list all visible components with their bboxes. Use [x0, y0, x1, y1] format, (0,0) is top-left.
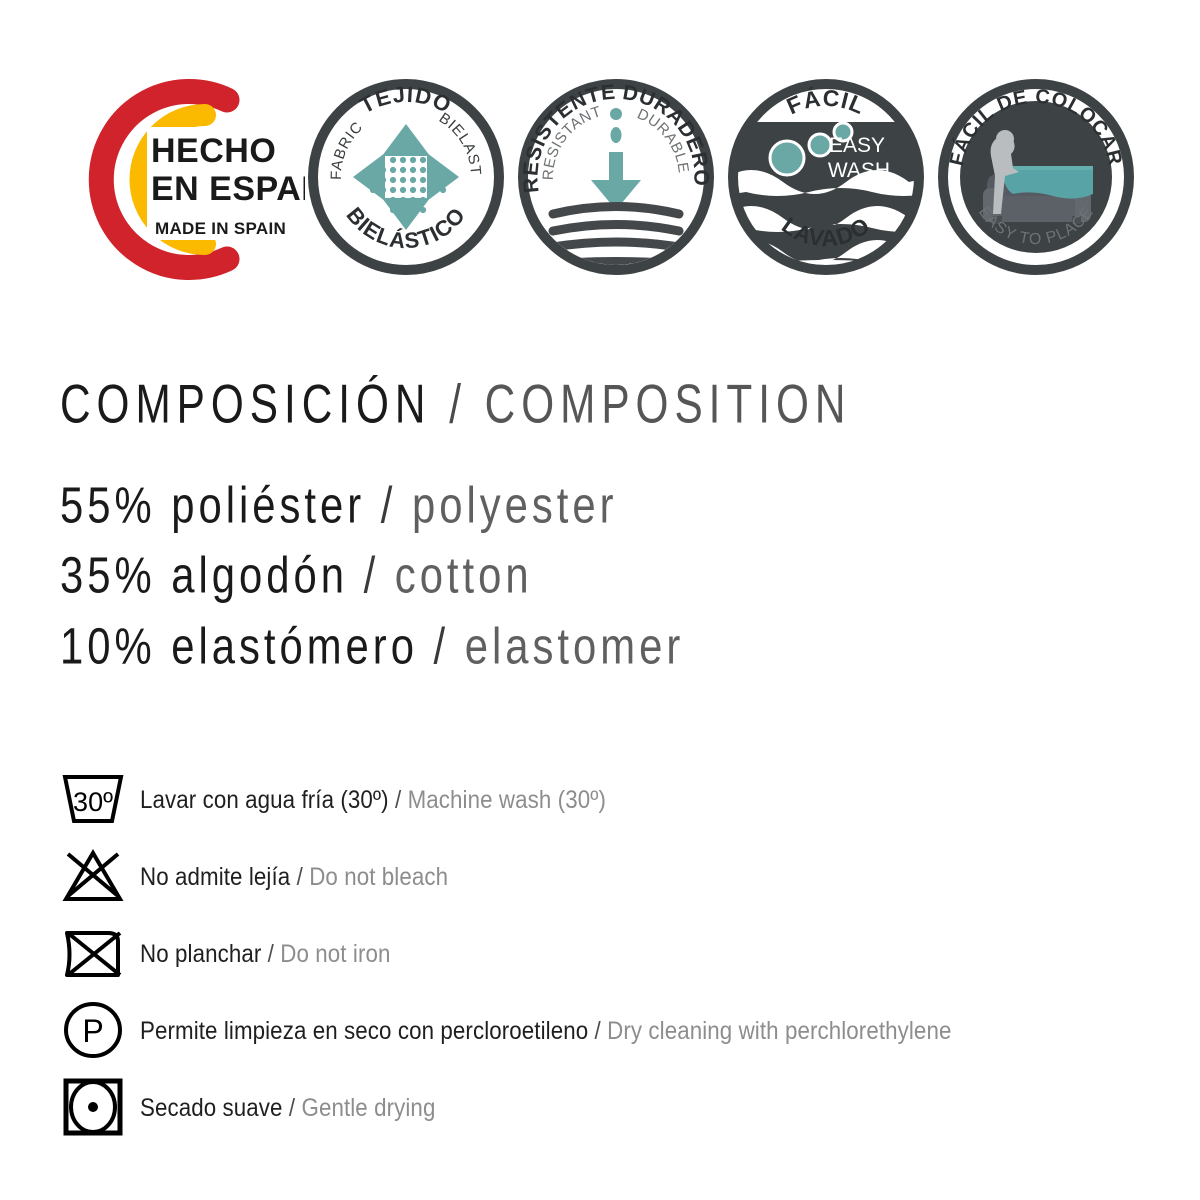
material-percent: 55%	[60, 477, 156, 534]
composition-title-es: COMPOSICIÓN	[60, 373, 431, 434]
badge3-inner-label-2: WASH	[828, 159, 890, 182]
badge-resistant-durable: RESISTENTE RESISTANT DURADERO DURABLE	[515, 76, 717, 278]
composition-material-row: 10% elastómero / elastomer	[60, 615, 1096, 680]
composition-title-en: COMPOSITION	[485, 373, 852, 434]
care-label: No planchar / Do not iron	[140, 938, 390, 968]
care-label-es: No admite lejía	[140, 861, 290, 890]
care-label: Lavar con agua fría (30º) / Machine wash…	[140, 784, 606, 814]
material-name-es: elastómero	[171, 618, 418, 675]
care-label-en: Gentle drying	[301, 1092, 435, 1121]
care-label-es: Permite limpieza en seco con percloroeti…	[140, 1015, 588, 1044]
care-label-separator: /	[595, 1015, 601, 1044]
gentle-drying-icon	[60, 1078, 140, 1136]
dry-clean-symbol-value: P	[82, 1013, 103, 1049]
care-label-en: Do not iron	[280, 938, 390, 967]
care-label-en: Machine wash (30º)	[408, 784, 606, 813]
wash-temp-value: 30º	[73, 787, 113, 817]
care-label-es: Lavar con agua fría (30º)	[140, 784, 389, 813]
composition-material-row: 35% algodón / cotton	[60, 544, 1096, 609]
material-name-en: cotton	[395, 548, 533, 605]
material-separator: /	[364, 548, 380, 605]
badge1-left-label: FABRIC	[328, 118, 367, 180]
care-row: No admite lejía / Do not bleach	[60, 839, 1180, 913]
care-label-en: Do not bleach	[309, 861, 448, 890]
care-label-separator: /	[268, 938, 274, 967]
do-not-iron-icon	[60, 925, 140, 981]
care-label: No admite lejía / Do not bleach	[140, 861, 448, 891]
care-label-page: HECHO EN ESPAÑA MADE IN SPAIN	[0, 0, 1200, 1200]
composition-section: COMPOSICIÓN / COMPOSITION 55% poliéster …	[60, 372, 1150, 685]
composition-title: COMPOSICIÓN / COMPOSITION	[60, 372, 1063, 436]
material-name-es: poliéster	[171, 477, 365, 534]
dry-clean-p-icon: P	[60, 1001, 140, 1059]
material-name-en: polyester	[412, 477, 618, 534]
care-label-separator: /	[297, 861, 303, 890]
care-label-es: Secado suave	[140, 1092, 283, 1121]
do-not-bleach-icon	[60, 848, 140, 904]
badge-easy-wash: FÁCIL LAVADO EASY WASH	[725, 76, 927, 278]
made-in-spain-logo: HECHO EN ESPAÑA MADE IN SPAIN	[55, 72, 305, 287]
composition-materials-list: 55% poliéster / polyester 35% algodón / …	[60, 474, 1150, 671]
care-label: Permite limpieza en seco con percloroeti…	[140, 1015, 951, 1045]
wash-tub-30-icon: 30º	[60, 771, 140, 827]
material-percent: 35%	[60, 548, 156, 605]
care-instructions-list: 30º Lavar con agua fría (30º) / Machine …	[60, 762, 1180, 1147]
care-row: P Permite limpieza en seco con percloroe…	[60, 993, 1180, 1067]
badge-fabric-stretch: TEJIDO BIELÁSTICO FABRIC BIELASTIC	[305, 76, 507, 278]
care-label-es: No planchar	[140, 938, 261, 967]
spain-logo-line3: MADE IN SPAIN	[155, 219, 286, 238]
spain-logo-line2: EN ESPAÑA	[151, 170, 305, 208]
spain-logo-line1: HECHO	[151, 132, 276, 170]
material-name-en: elastomer	[465, 618, 684, 675]
care-label: Secado suave / Gentle drying	[140, 1092, 435, 1122]
composition-title-separator: /	[449, 373, 467, 434]
material-name-es: algodón	[171, 548, 348, 605]
material-percent: 10%	[60, 618, 156, 675]
material-separator: /	[381, 477, 397, 534]
composition-material-row: 55% poliéster / polyester	[60, 474, 1096, 539]
badge-easy-to-place: FÁCIL DE COLOCAR EASY TO PLACE	[935, 76, 1137, 278]
badge-row: HECHO EN ESPAÑA MADE IN SPAIN	[0, 62, 1200, 307]
care-row: Secado suave / Gentle drying	[60, 1070, 1180, 1144]
care-label-separator: /	[395, 784, 401, 813]
care-row: No planchar / Do not iron	[60, 916, 1180, 990]
material-separator: /	[434, 618, 450, 675]
badge3-inner-label-1: EASY	[829, 134, 885, 157]
care-label-en: Dry cleaning with perchlorethylene	[607, 1015, 951, 1044]
care-row: 30º Lavar con agua fría (30º) / Machine …	[60, 762, 1180, 836]
care-label-separator: /	[289, 1092, 295, 1121]
